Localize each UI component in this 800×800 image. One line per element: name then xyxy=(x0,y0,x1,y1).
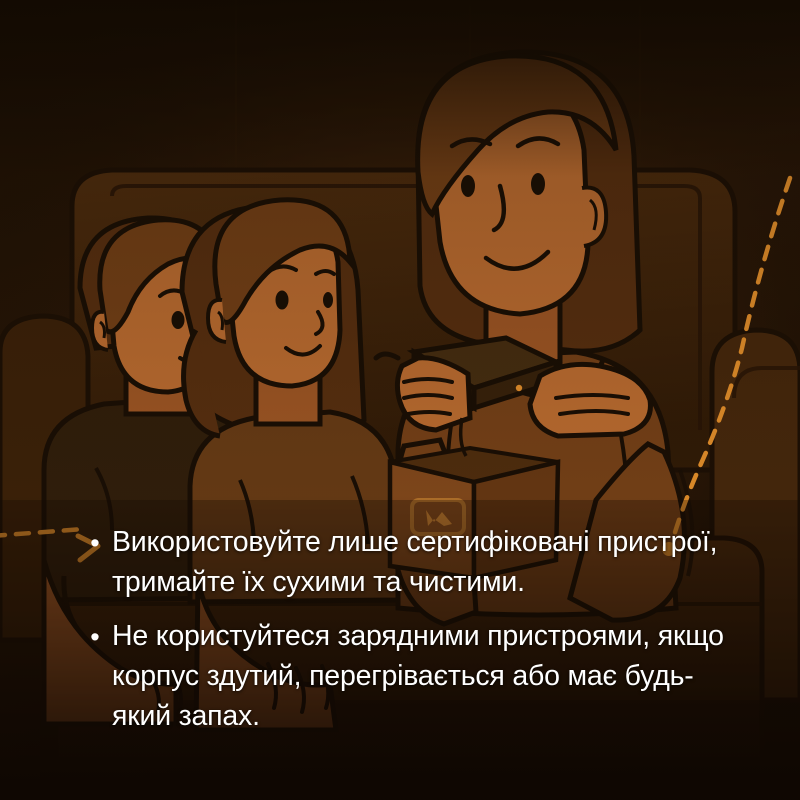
caption-bullet-item: • Не користуйтеся зарядними пристроями, … xyxy=(0,616,800,736)
bullet-marker-icon: • xyxy=(78,522,112,563)
caption-block: • Використовуйте лише сертифіковані прис… xyxy=(0,522,800,736)
bullet-marker-icon: • xyxy=(78,616,112,657)
illustration-card: • Використовуйте лише сертифіковані прис… xyxy=(0,0,800,800)
caption-bullet-item: • Використовуйте лише сертифіковані прис… xyxy=(0,522,800,602)
bullet-text-damaged-chargers: Не користуйтеся зарядними пристроями, як… xyxy=(112,616,737,736)
bullet-text-certified-devices: Використовуйте лише сертифіковані пристр… xyxy=(112,522,737,602)
